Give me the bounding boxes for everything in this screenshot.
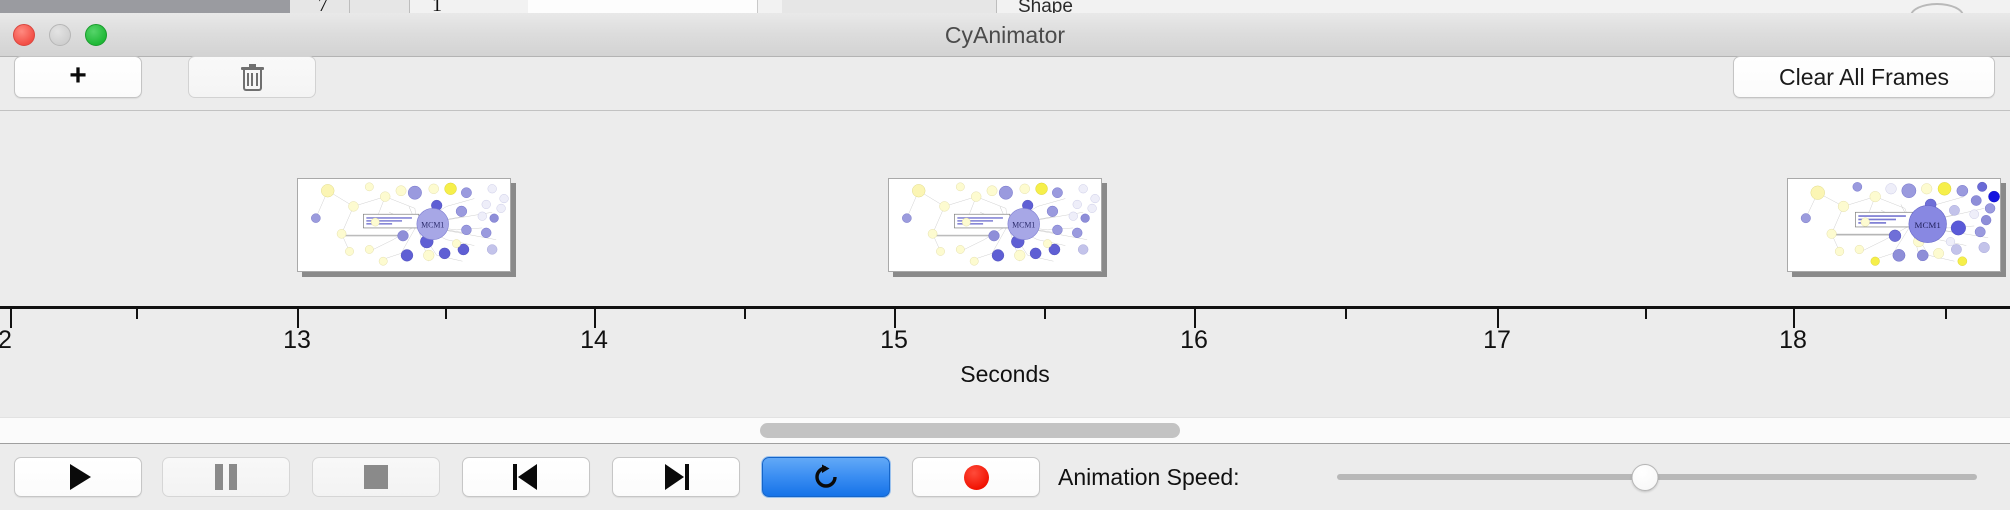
axis-minor-tick [1945,309,1947,319]
axis-minor-tick [445,309,447,319]
background-glyph: 7 [318,0,328,13]
background-cell [782,0,997,13]
timeline-axis [0,306,2010,309]
network-thumbnail-image: MCM1 [298,179,510,271]
axis-title: Seconds [0,361,2010,388]
stop-button[interactable] [312,457,440,497]
background-cell [528,0,758,13]
svg-text:MCM1: MCM1 [421,220,444,229]
background-window-titlebar [0,0,290,13]
skip-to-start-icon [513,464,539,490]
thumbnail-plate: MCM1 [1787,178,2001,272]
add-frame-button[interactable]: + [14,56,142,98]
axis-minor-tick [1645,309,1647,319]
plus-icon: + [69,61,87,91]
play-icon [70,464,91,490]
axis-tick-label: 2 [0,326,12,355]
timeline-scrollbar-thumb[interactable] [760,423,1180,438]
loop-icon [812,463,840,491]
svg-text:MCM1: MCM1 [1012,220,1035,229]
axis-tick-label: 17 [1483,326,1511,355]
network-thumbnail-image: MCM1 [1788,179,2000,271]
record-button[interactable] [912,457,1040,497]
animation-speed-slider[interactable] [1337,457,1977,497]
skip-to-end-button[interactable] [612,457,740,497]
background-cell [350,0,410,13]
network-thumbnail-image: MCM1 [889,179,1101,271]
stop-icon [364,465,388,489]
timeline-scrollbar[interactable] [0,417,2010,444]
delete-frame-button[interactable] [188,56,316,98]
background-glyph: 1 [432,0,442,13]
skip-to-start-button[interactable] [462,457,590,497]
record-icon [964,465,989,490]
thumbnail-plate: MCM1 [888,178,1102,272]
trash-icon [241,64,264,91]
pause-icon [215,464,237,490]
axis-tick-label: 18 [1779,326,1807,355]
axis-minor-tick [1345,309,1347,319]
axis-minor-tick [136,309,138,319]
titlebar: CyAnimator [0,13,2010,57]
animation-speed-label: Animation Speed: [1058,457,1240,497]
axis-tick-label: 14 [580,326,608,355]
thumbnail-plate: MCM1 [297,178,511,272]
pause-button[interactable] [162,457,290,497]
background-window-strip: 7 1 . Shape [0,0,2010,13]
cyanimator-window: 7 1 . Shape CyAnimator + Clear All Frame… [0,0,2010,510]
axis-tick-label: 13 [283,326,311,355]
axis-minor-tick [744,309,746,319]
clear-all-frames-button[interactable]: Clear All Frames [1733,56,1995,98]
axis-tick-label: 15 [880,326,908,355]
background-window-label: Shape [1018,0,1073,13]
play-button[interactable] [14,457,142,497]
clear-all-frames-label: Clear All Frames [1779,64,1949,91]
axis-tick-label: 16 [1180,326,1208,355]
timeline-frame-thumbnail[interactable]: MCM1 [297,178,511,272]
background-arc-icon [1910,3,1964,13]
timeline-frame-thumbnail[interactable]: MCM1 [888,178,1102,272]
slider-thumb[interactable] [1632,464,1659,491]
playback-control-bar: Animation Speed: [0,444,2010,510]
axis-minor-tick [1044,309,1046,319]
skip-to-end-icon [663,464,689,490]
svg-text:MCM1: MCM1 [1915,220,1941,230]
timeline-frame-thumbnail[interactable]: MCM1 [1787,178,2001,272]
window-title: CyAnimator [0,13,2010,57]
loop-button[interactable] [762,457,890,497]
